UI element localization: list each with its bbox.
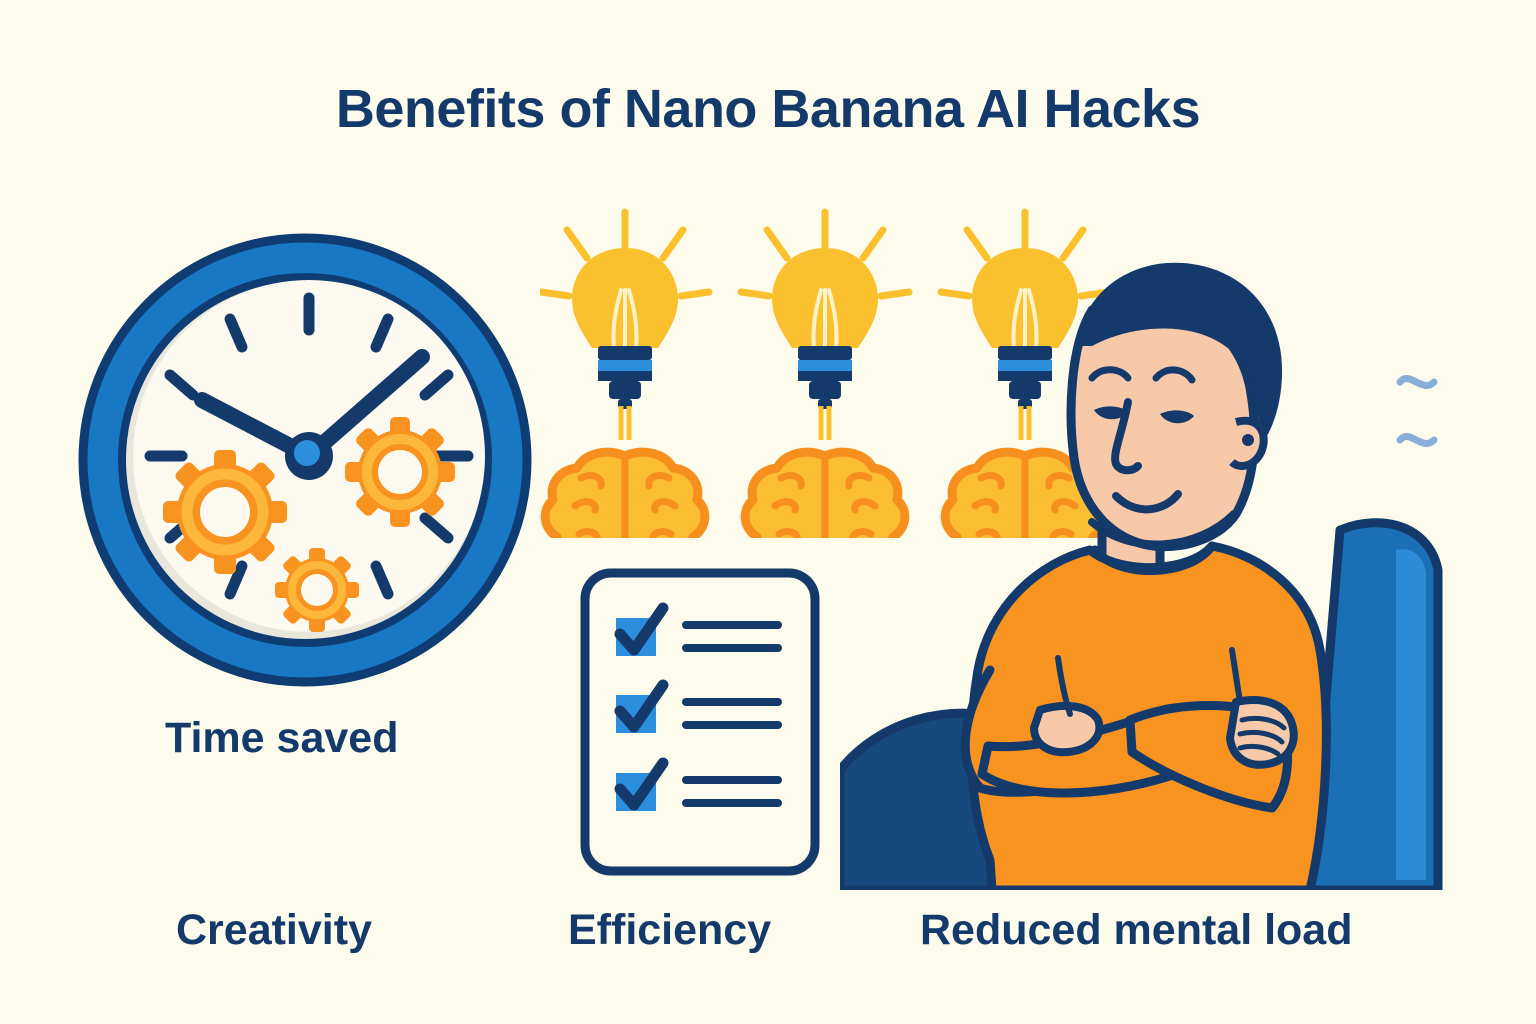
gear-medium: [345, 417, 455, 527]
relax-squiggles-right: [1400, 379, 1434, 444]
brain-icon: [545, 452, 705, 538]
checklist-icon: [578, 566, 822, 878]
caption-creativity: Creativity: [176, 906, 372, 955]
gear-small: [275, 548, 359, 632]
relaxed-person-illustration: [840, 250, 1536, 890]
lightbulb-icon: [541, 212, 709, 440]
gear-large: [163, 450, 287, 574]
infographic-canvas: Benefits of Nano Banana AI Hacks: [0, 0, 1536, 1024]
bulb-brain-unit-1: [541, 212, 709, 538]
clock-gears-icon: [70, 222, 540, 692]
clock-gears-illustration: [70, 222, 540, 692]
page-title: Benefits of Nano Banana AI Hacks: [0, 78, 1536, 140]
caption-time-saved: Time saved: [165, 714, 398, 763]
caption-efficiency: Efficiency: [568, 906, 771, 955]
checklist-illustration: [578, 566, 822, 878]
caption-reduced-mental-load: Reduced mental load: [920, 906, 1352, 955]
